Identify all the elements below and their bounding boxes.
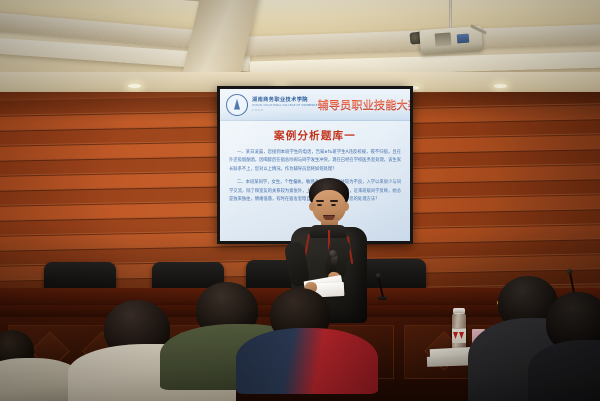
slide-title: 案例分析题库一: [229, 128, 401, 143]
speaker-ear: [343, 202, 349, 211]
attendee-back-right: [540, 292, 600, 401]
attendee-shoulders: [236, 328, 378, 394]
school-name-en: HUNAN VOCATIONAL COLLEGE OF COMMERCE: [252, 104, 318, 107]
gooseneck-microphone-head: [567, 269, 572, 274]
school-subtitle: 1950: [252, 108, 318, 112]
competition-banner-title: 辅导员职业技能大赛: [318, 97, 410, 113]
attendee-red-navy-jacket: [240, 288, 370, 401]
school-identity: 湖南商务职业技术学院 HUNAN VOCATIONAL COLLEGE OF C…: [252, 97, 318, 112]
projector-panel: [457, 34, 470, 44]
slide-paragraph: 一、某日凌晨，您接到本班学生的电话，告知ครับ班学生A违反校规，夜不归宿，且在…: [229, 149, 401, 174]
lecture-hall-photo: 湖南商务职业技术学院 HUNAN VOCATIONAL COLLEGE OF C…: [0, 0, 600, 401]
attendee-far-left: [0, 330, 76, 401]
speaker-ear: [309, 202, 315, 211]
water-bottle-label: [452, 328, 466, 343]
speaker-eyebrow: [330, 200, 338, 202]
bottle-label-mark: [453, 332, 458, 339]
recessed-downlight: [128, 84, 141, 88]
speaker-eyebrow: [316, 200, 324, 202]
gooseneck-microphone-head: [376, 273, 381, 278]
university-seal-icon: [226, 94, 248, 116]
ceiling: [0, 0, 600, 96]
projector-mount-pole: [449, 0, 452, 30]
recessed-downlight: [494, 84, 507, 88]
bottle-label-mark: [459, 332, 464, 339]
projector-vent: [435, 32, 452, 46]
slide-header: 湖南商务职业技术学院 HUNAN VOCATIONAL COLLEGE OF C…: [220, 89, 410, 121]
